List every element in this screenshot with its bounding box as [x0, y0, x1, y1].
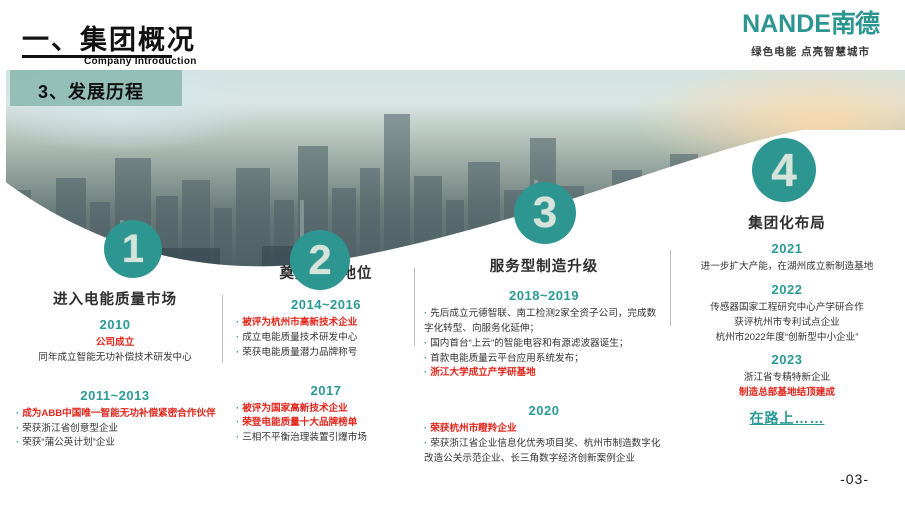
column-divider-1: [222, 295, 223, 363]
milestone-circle-1: 1: [104, 220, 162, 278]
brand-logo: NANDE南德 绿色电能 点亮智慧城市: [742, 12, 879, 59]
logo-tagline: 绿色电能 点亮智慧城市: [742, 44, 879, 59]
milestone-number-1: 1: [122, 227, 144, 272]
list-item: 先后成立元德智联、南工检测2家全资子公司，完成数字化转型、向服务化延伸；: [424, 307, 664, 337]
column-title-4: 集团化布局: [678, 212, 896, 233]
list-item: 传感器国家工程研究中心产学研合作: [678, 301, 896, 316]
year-label-2010: 2010: [16, 317, 214, 332]
list-item: 首款电能质量云平台应用系统发布；: [424, 352, 664, 367]
list-item: 荣获浙江省创意型企业: [16, 422, 214, 437]
milestone-circle-4: 4: [752, 138, 816, 202]
list-item: 浙江大学成立产学研基地: [424, 366, 664, 381]
list-item: 被评为杭州市高新技术企业: [236, 316, 416, 331]
list-item: 获评杭州市专利试点企业: [678, 316, 896, 331]
list-item: 杭州市2022年度“创新型中小企业”: [678, 331, 896, 346]
page-title: 一、集团概况: [22, 18, 196, 57]
closing-statement: 在路上……: [678, 408, 896, 428]
column-title-3: 服务型制造升级: [424, 255, 664, 276]
list-item: 荣获杭州市瞪羚企业: [424, 422, 664, 437]
left-edge-mask: [0, 0, 6, 515]
year-label-2021: 2021: [678, 241, 896, 256]
timeline-column-4: 集团化布局 2021 进一步扩大产能，在湖州成立新制造基地 2022 传感器国家…: [678, 212, 896, 428]
column-divider-3: [670, 250, 671, 326]
list-item: 荣获浙江省企业信息化优秀项目奖、杭州市制造数字化改造公关示范企业、长三角数字经济…: [424, 437, 664, 467]
year-label-2011-2013: 2011~2013: [16, 388, 214, 403]
year-label-2014-2016: 2014~2016: [236, 297, 416, 312]
milestone-circle-2: 2: [290, 230, 350, 290]
logo-text-de: DE: [796, 10, 831, 38]
list-item: 三相不平衡治理装置引爆市场: [236, 431, 416, 446]
list-item: 公司成立: [16, 336, 214, 351]
list-item: 荣获“蒲公英计划”企业: [16, 436, 214, 451]
page-number: -03-: [840, 471, 869, 487]
milestone-circle-3: 3: [514, 182, 576, 244]
section-tab-label: 3、发展历程: [38, 78, 144, 104]
year-label-2018-2019: 2018~2019: [424, 288, 664, 303]
year-label-2017: 2017: [236, 383, 416, 398]
logo-wordmark: NANDE南德: [742, 12, 879, 37]
milestone-number-3: 3: [533, 188, 557, 238]
column-title-1: 进入电能质量市场: [16, 288, 214, 309]
timeline-column-2: 奠定行业地位 2014~2016 被评为杭州市高新技术企业 成立电能质量技术研发…: [236, 262, 416, 446]
logo-text-nan: NAN: [742, 10, 796, 38]
list-item: 荣获电能质量潜力品牌称号: [236, 346, 416, 361]
list-item: 成立电能质量技术研发中心: [236, 331, 416, 346]
year-label-2023: 2023: [678, 352, 896, 367]
timeline-column-3: 服务型制造升级 2018~2019 先后成立元德智联、南工检测2家全资子公司，完…: [424, 255, 664, 467]
list-item: 浙江省专精特新企业: [678, 371, 896, 386]
list-item: 荣登电能质量十大品牌榜单: [236, 416, 416, 431]
milestone-number-4: 4: [771, 143, 797, 197]
year-label-2020: 2020: [424, 403, 664, 418]
list-item: 进一步扩大产能，在湖州成立新制造基地: [678, 260, 896, 275]
slide-root: 一、集团概况 Company Introduction NANDE南德 绿色电能…: [0, 0, 905, 515]
milestone-number-2: 2: [308, 236, 331, 284]
list-item: 成为ABB中国唯一智能无功补偿紧密合作伙伴: [16, 407, 214, 422]
page-subtitle-en: Company Introduction: [84, 56, 197, 67]
list-item: 国内首台“上云”的智能电容和有源滤波器诞生；: [424, 337, 664, 352]
logo-text-cjk: 南德: [831, 10, 879, 38]
year-label-2022: 2022: [678, 282, 896, 297]
timeline-column-1: 进入电能质量市场 2010 公司成立 同年成立智能无功补偿技术研发中心 2011…: [16, 288, 214, 451]
list-item: 被评为国家高新技术企业: [236, 402, 416, 417]
list-item: 制造总部基地结顶建成: [678, 386, 896, 401]
list-item: 同年成立智能无功补偿技术研发中心: [16, 351, 214, 366]
